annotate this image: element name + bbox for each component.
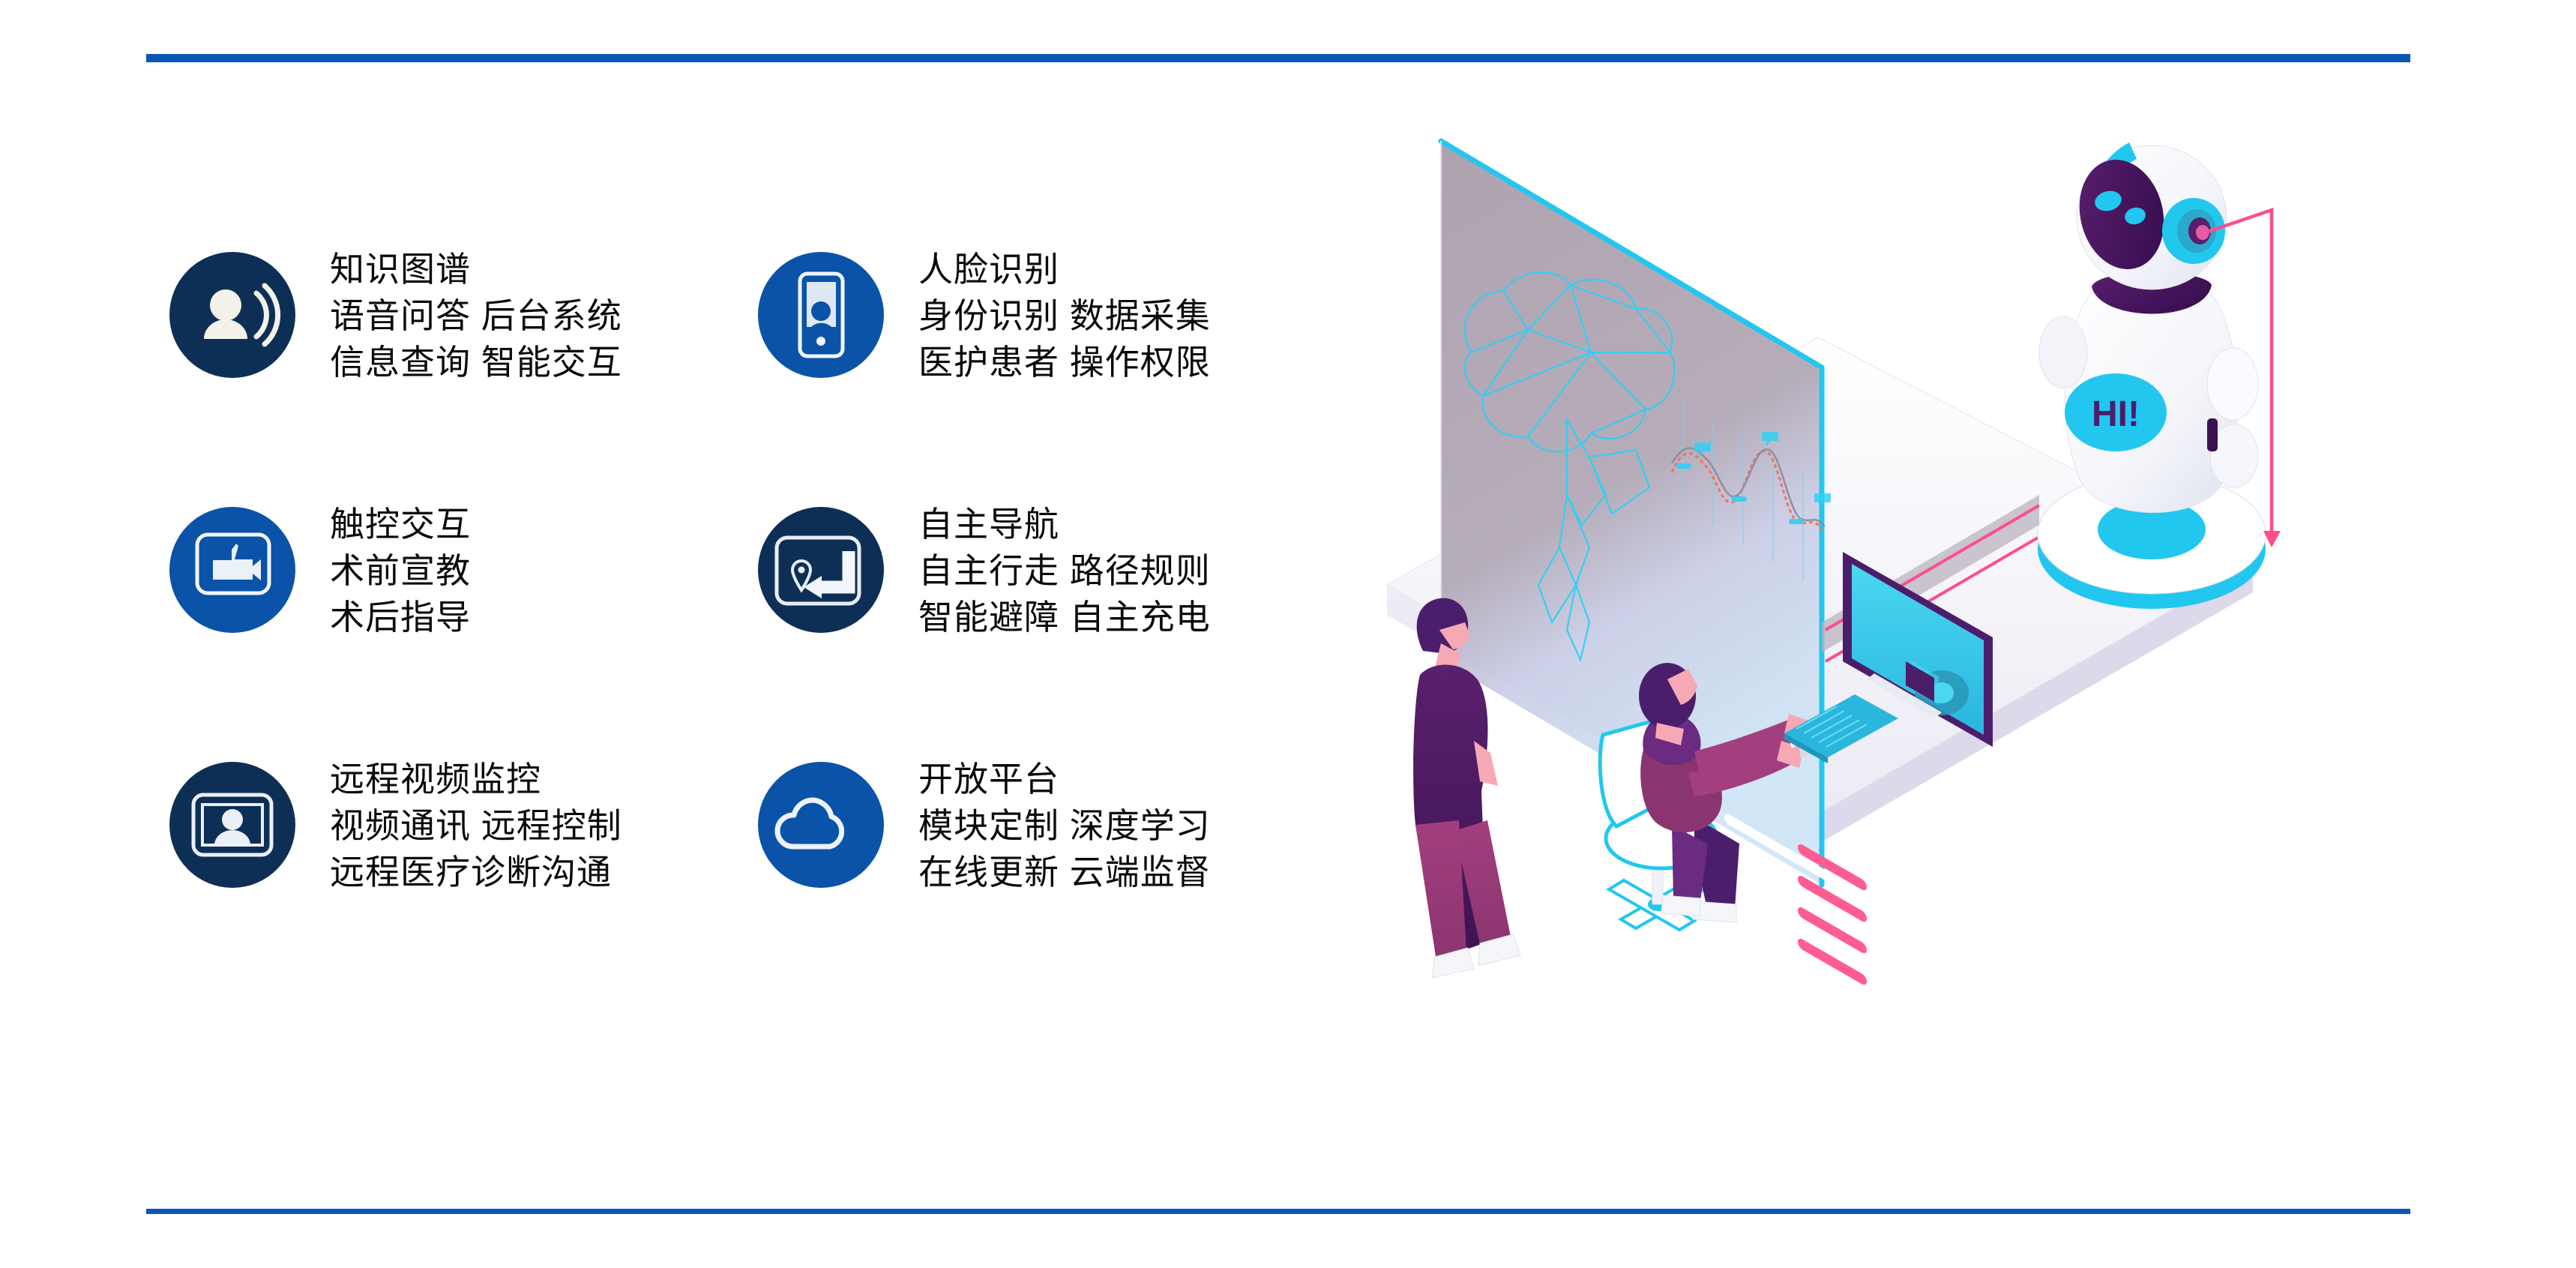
feature-line: 人脸识别 <box>918 246 1211 292</box>
face-recognition-icon <box>757 251 885 379</box>
feature-line: 信息查询 智能交互 <box>330 339 622 385</box>
feature-line: 远程医疗诊断沟通 <box>330 849 622 895</box>
feature-line: 医护患者 操作权限 <box>918 339 1211 385</box>
feature-line: 语音问答 后台系统 <box>330 292 622 339</box>
feature-line: 自主行走 路径规则 <box>918 547 1211 594</box>
touch-gesture-icon <box>169 506 296 634</box>
top-divider-rule <box>146 54 2410 62</box>
feature-line: 术后指导 <box>330 594 471 640</box>
feature-line: 身份识别 数据采集 <box>918 292 1211 339</box>
feature-line: 模块定制 深度学习 <box>918 802 1211 849</box>
video-monitor-icon <box>169 761 296 889</box>
bottom-divider-rule <box>146 1209 2410 1214</box>
feature-line: 知识图谱 <box>330 246 622 292</box>
voice-assistant-icon <box>169 251 296 379</box>
feature-text-block: 自主导航 自主行走 路径规则 智能避障 自主充电 <box>918 501 1211 640</box>
feature-text-block: 远程视频监控 视频通讯 远程控制 远程医疗诊断沟通 <box>330 756 622 895</box>
cloud-platform-icon <box>757 761 885 889</box>
navigation-route-icon <box>757 506 885 634</box>
feature-line: 触控交互 <box>330 501 471 547</box>
robot-badge-text: HI! <box>2092 394 2140 434</box>
isometric-ai-hospital-illustration: HI! <box>1342 105 2347 990</box>
feature-text-block: 人脸识别 身份识别 数据采集 医护患者 操作权限 <box>918 246 1211 385</box>
service-robot: HI! <box>2038 142 2281 609</box>
feature-line: 自主导航 <box>918 501 1211 547</box>
feature-line: 智能避障 自主充电 <box>918 594 1211 640</box>
feature-line: 开放平台 <box>918 756 1211 802</box>
feature-line: 在线更新 云端监督 <box>918 849 1211 895</box>
feature-line: 视频通讯 远程控制 <box>330 802 622 849</box>
feature-text-block: 触控交互 术前宣教 术后指导 <box>330 501 471 640</box>
feature-text-block: 知识图谱 语音问答 后台系统 信息查询 智能交互 <box>330 246 622 385</box>
feature-line: 远程视频监控 <box>330 756 622 802</box>
feature-line: 术前宣教 <box>330 547 471 594</box>
feature-text-block: 开放平台 模块定制 深度学习 在线更新 云端监督 <box>918 756 1211 895</box>
